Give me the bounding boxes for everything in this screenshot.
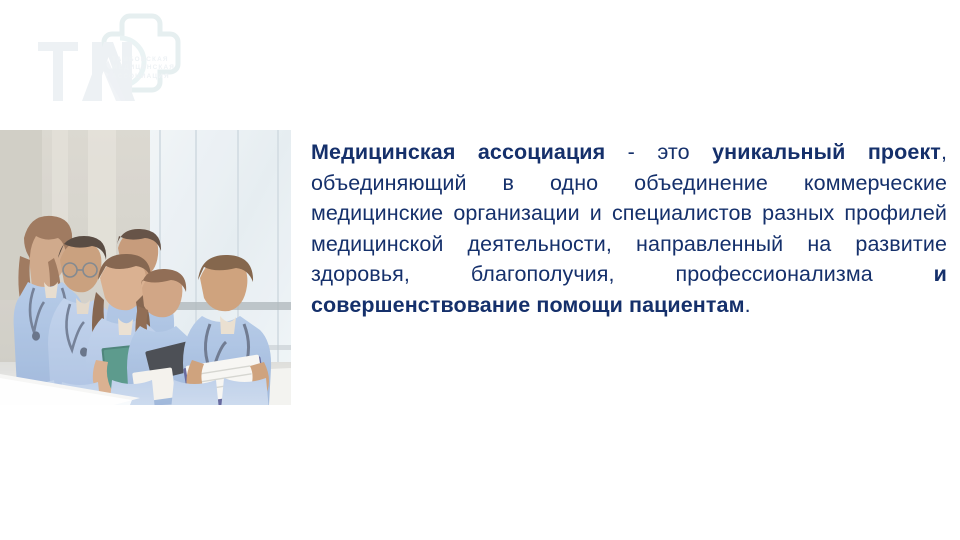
tma-monogram — [38, 42, 135, 101]
logo-line-1: ТАМБОВСКАЯ — [112, 56, 175, 64]
slide-canvas: ТАМБОВСКАЯ МЕДИЦИНСКАЯ АССОЦИАЦИЯ — [0, 0, 960, 540]
medical-team-photo — [0, 130, 291, 405]
tma-logo-watermark: ТАМБОВСКАЯ МЕДИЦИНСКАЯ АССОЦИАЦИЯ — [34, 8, 214, 113]
logo-line-3: АССОЦИАЦИЯ — [112, 73, 175, 81]
body-run-bold-1: Медицинская ассоциация — [311, 140, 605, 164]
body-paragraph-text: Медицинская ассоциация - это уникальный … — [311, 137, 947, 321]
logo-wordmark: ТАМБОВСКАЯ МЕДИЦИНСКАЯ АССОЦИАЦИЯ — [112, 56, 175, 81]
body-run-2: - это — [605, 140, 712, 164]
logo-line-2: МЕДИЦИНСКАЯ — [112, 64, 175, 72]
medical-cross-icon — [104, 16, 178, 90]
body-paragraph: Медицинская ассоциация - это уникальный … — [311, 137, 947, 321]
body-run-6: . — [745, 293, 751, 317]
body-run-bold-3: уникальный проект — [712, 140, 941, 164]
